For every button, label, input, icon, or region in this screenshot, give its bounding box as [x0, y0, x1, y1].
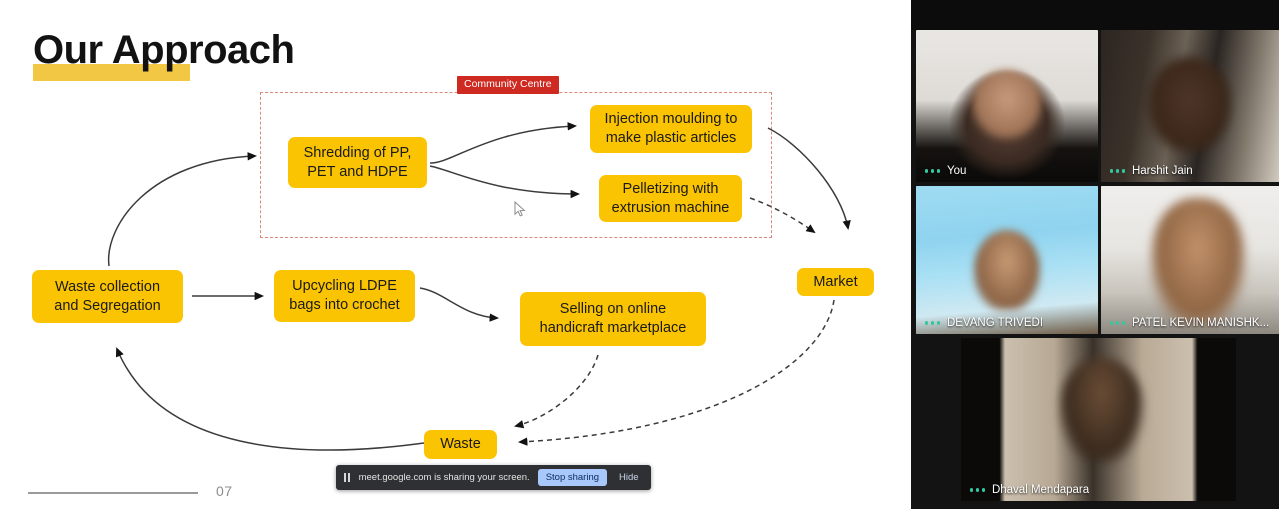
participant-namebar: PATEL KEVIN MANISHK...: [1101, 312, 1279, 334]
mic-activity-icon: [925, 321, 940, 324]
participant-tile-dhaval-mendapara[interactable]: Dhaval Mendapara: [961, 338, 1236, 501]
page-title: Our Approach: [33, 30, 294, 70]
page-number: 07: [216, 483, 233, 499]
node-waste-collection: Waste collectionand Segregation: [32, 270, 183, 323]
node-pelletizing: Pelletizing withextrusion machine: [599, 175, 742, 222]
community-centre-label: Community Centre: [457, 76, 559, 94]
mouse-cursor-icon: [514, 201, 527, 218]
participant-namebar: Harshit Jain: [1101, 160, 1279, 182]
node-waste: Waste: [424, 430, 497, 459]
shared-slide: Our Approach Community Centre: [0, 0, 911, 509]
screen-root: Our Approach Community Centre: [0, 0, 1279, 509]
node-selling-label: Selling on onlinehandicraft marketplace: [540, 300, 687, 337]
node-pelletizing-label: Pelletizing withextrusion machine: [612, 180, 730, 217]
screen-share-toast[interactable]: meet.google.com is sharing your screen. …: [336, 465, 651, 490]
meet-participant-panel: You Harshit Jain DEVANG TRIVEDI PATEL KE…: [911, 0, 1279, 509]
meet-top-bar: [911, 0, 1279, 30]
node-selling-online: Selling on onlinehandicraft marketplace: [520, 292, 706, 346]
participant-namebar: DEVANG TRIVEDI: [916, 312, 1098, 334]
node-upcycling-ldpe: Upcycling LDPEbags into crochet: [274, 270, 415, 322]
participant-tile-devang-trivedi[interactable]: DEVANG TRIVEDI: [916, 186, 1098, 334]
node-injection-moulding: Injection moulding tomake plastic articl…: [590, 105, 752, 153]
participant-tile-patel-kevin[interactable]: PATEL KEVIN MANISHK...: [1101, 186, 1279, 334]
footer-rule: [28, 492, 198, 494]
node-collection-label: Waste collectionand Segregation: [54, 278, 160, 315]
hide-button[interactable]: Hide: [615, 469, 643, 486]
mic-activity-icon: [925, 169, 940, 172]
video-feed: [961, 338, 1236, 501]
participant-name: Dhaval Mendapara: [992, 484, 1089, 496]
participant-name: DEVANG TRIVEDI: [947, 317, 1043, 329]
stop-sharing-button[interactable]: Stop sharing: [538, 469, 607, 486]
node-injection-label: Injection moulding tomake plastic articl…: [605, 110, 738, 147]
mic-activity-icon: [1110, 321, 1125, 324]
pause-icon: [344, 473, 350, 482]
node-market: Market: [797, 268, 874, 296]
participant-tile-harshit-jain[interactable]: Harshit Jain: [1101, 30, 1279, 182]
node-shredding-label: Shredding of PP,PET and HDPE: [304, 144, 412, 181]
mic-activity-icon: [970, 488, 985, 491]
mic-activity-icon: [1110, 169, 1125, 172]
participant-namebar: Dhaval Mendapara: [961, 479, 1236, 501]
participant-name: Harshit Jain: [1132, 165, 1193, 177]
participant-name: PATEL KEVIN MANISHK...: [1132, 317, 1269, 329]
participant-name: You: [947, 165, 966, 177]
share-message: meet.google.com is sharing your screen.: [359, 472, 530, 483]
node-upcycling-label: Upcycling LDPEbags into crochet: [289, 277, 399, 314]
participant-namebar: You: [916, 160, 1098, 182]
node-shredding: Shredding of PP,PET and HDPE: [288, 137, 427, 188]
participant-tile-you[interactable]: You: [916, 30, 1098, 182]
